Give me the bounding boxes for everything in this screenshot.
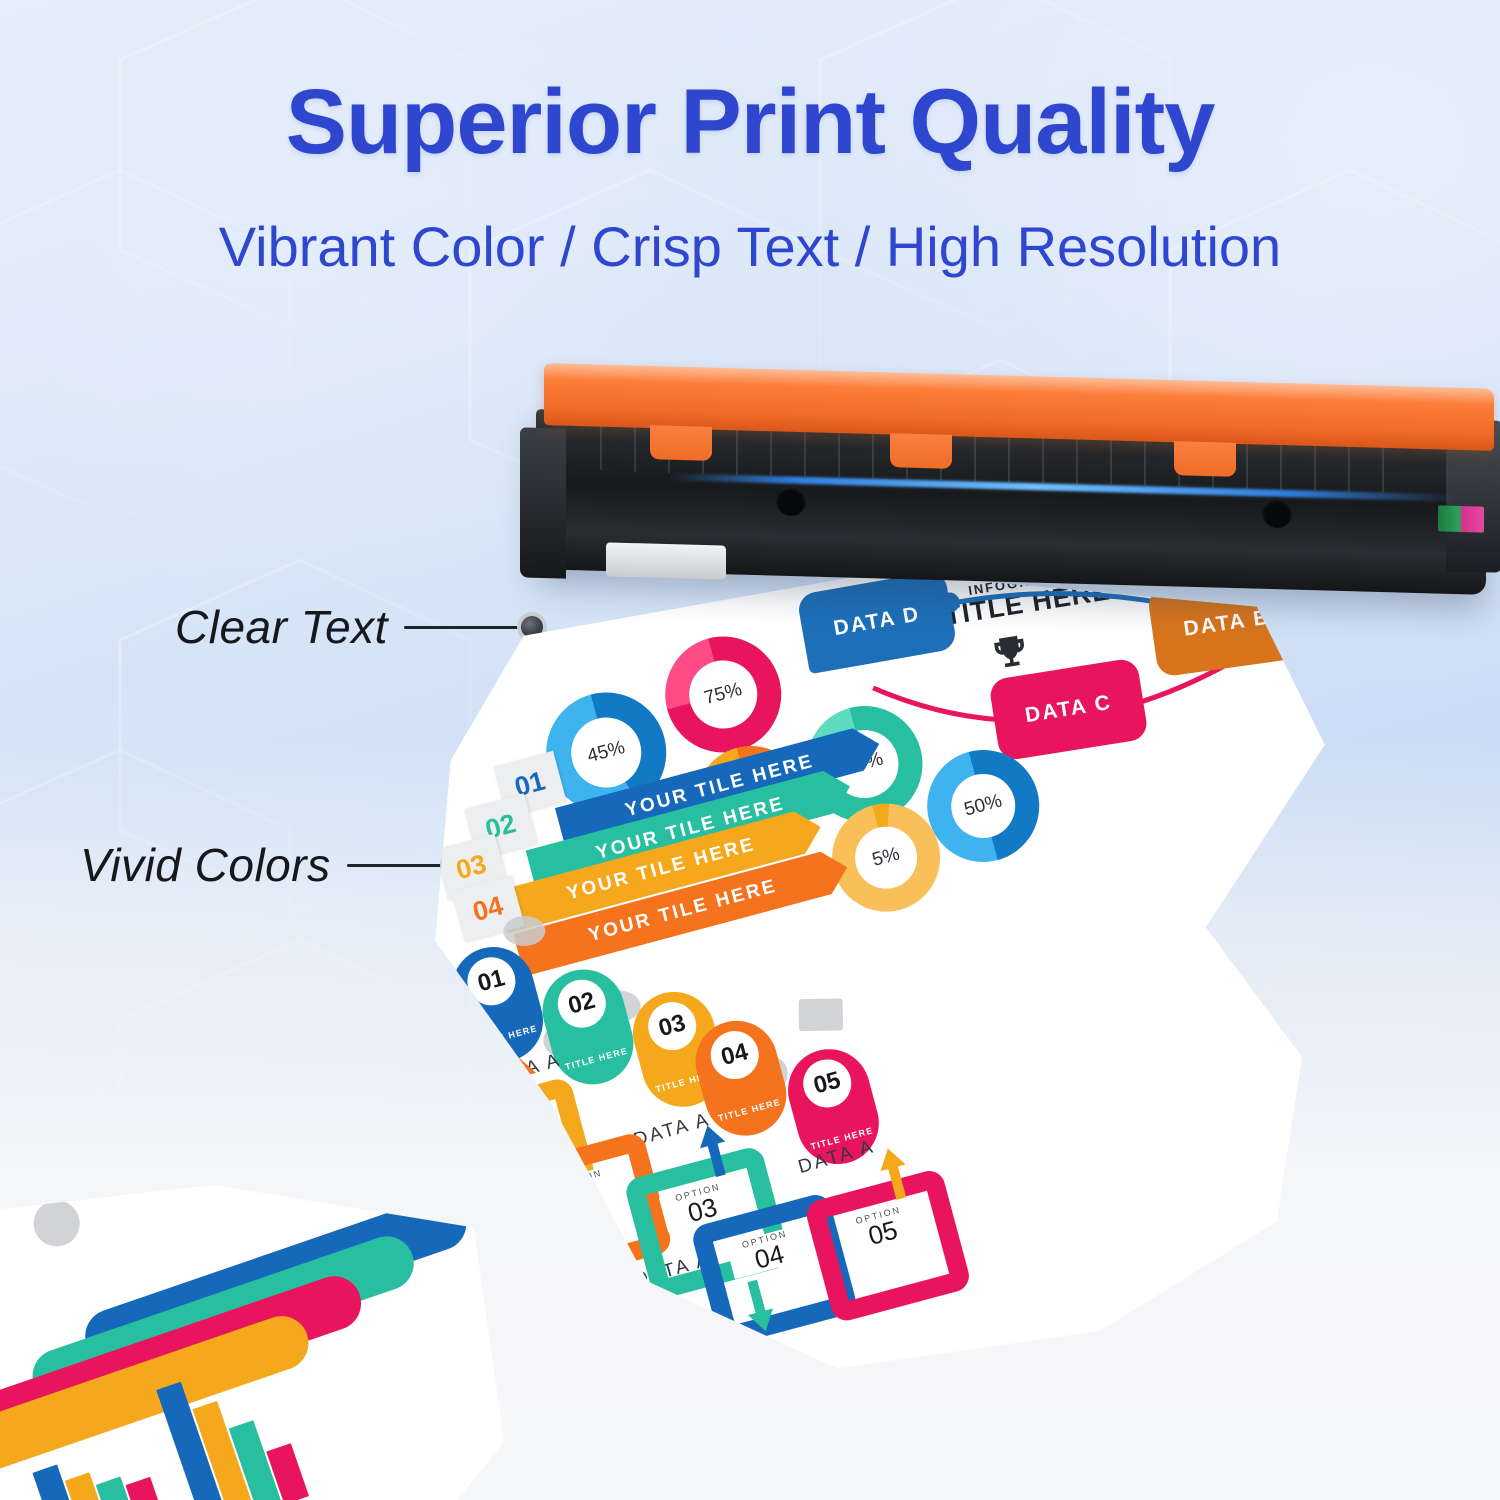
leader-line	[404, 626, 524, 629]
toner-cartridge	[520, 368, 1500, 638]
cartridge-hole-right	[1262, 498, 1292, 529]
cartridge-chip-contact	[1438, 505, 1484, 532]
page-title: Superior Print Quality	[0, 74, 1500, 171]
bubble-number: 03	[643, 997, 702, 1056]
cartridge-tab-right	[1174, 441, 1236, 477]
cartridge-hole-left	[776, 486, 806, 517]
bar-chart-icon	[799, 998, 844, 1031]
page-subtitle: Vibrant Color / Crisp Text / High Resolu…	[0, 214, 1500, 279]
callout-vivid-colors-label: Vivid Colors	[80, 838, 331, 892]
product-marketing-image: Superior Print Quality Vibrant Color / C…	[0, 0, 1500, 1500]
cartridge-roller	[606, 542, 726, 579]
callout-vivid-colors: Vivid Colors	[80, 838, 466, 892]
cartridge-tab-left	[650, 425, 712, 461]
bubble-number: 02	[552, 974, 611, 1033]
bubble-number: 04	[705, 1026, 764, 1085]
callout-clear-text: Clear Text	[175, 600, 543, 654]
gear-icon	[33, 1200, 81, 1248]
cartridge-left-end-cap	[520, 427, 566, 578]
bubble-title: TITLE HERE	[709, 1095, 791, 1126]
printed-page-secondary: 2018 2019 2020 2021 TITLE HERE 55% 60%	[0, 1175, 517, 1500]
cartridge-tab-mid	[890, 433, 952, 469]
bubble-number: 05	[798, 1054, 857, 1113]
bubble-title: TITLE HERE	[556, 1043, 638, 1074]
callout-clear-text-label: Clear Text	[175, 600, 388, 654]
leader-line	[347, 864, 447, 867]
